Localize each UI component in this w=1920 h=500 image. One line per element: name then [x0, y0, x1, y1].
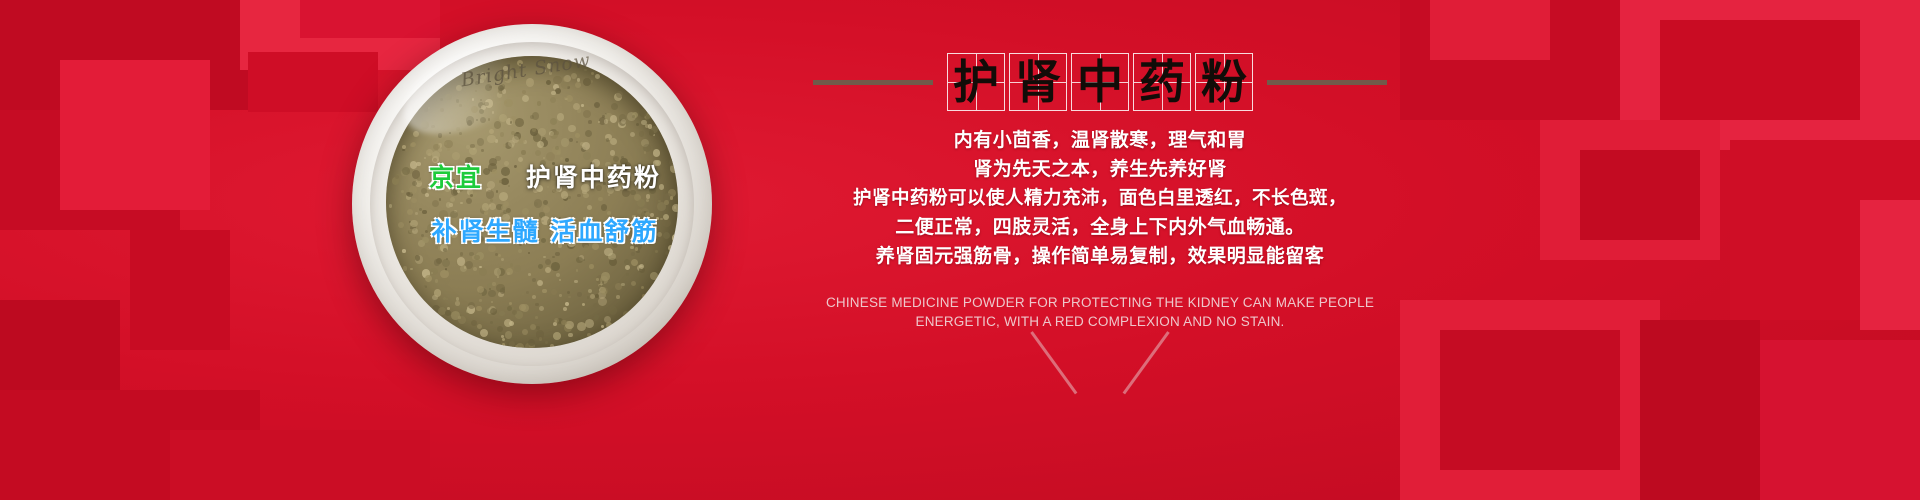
- heading-char: 护: [953, 59, 999, 105]
- bg-block: [170, 430, 430, 500]
- chevron-arm-right: [1123, 331, 1170, 394]
- bg-block: [130, 230, 230, 350]
- description-line: 护肾中药粉可以使人精力充沛，面色白里透红，不长色斑，: [700, 184, 1500, 213]
- heading-char: 粉: [1201, 59, 1247, 105]
- heading-cell: 中: [1071, 53, 1129, 111]
- bg-block: [1580, 150, 1700, 240]
- bg-block: [60, 60, 210, 210]
- heading-char: 药: [1139, 59, 1185, 105]
- english-subtitle: CHINESE MEDICINE POWDER FOR PROTECTING T…: [700, 293, 1500, 331]
- heading-cell: 药: [1133, 53, 1191, 111]
- heading-cell: 护: [947, 53, 1005, 111]
- description-line: 养肾固元强筋骨，操作简单易复制，效果明显能留客: [700, 242, 1500, 271]
- description-line: 肾为先天之本，养生先养好肾: [700, 155, 1500, 184]
- content-column: 护 肾 中 药 粉 内有小茴香，温肾散寒，理气和胃 肾为先天之本，养生先养好肾 …: [700, 0, 1500, 500]
- promo-banner: Bright Snow 京宜 护肾中药粉 补肾生髓 活血舒筋 护 肾 中 药 粉: [0, 0, 1920, 500]
- english-line: ENERGETIC, WITH A RED COMPLEXION AND NO …: [700, 312, 1500, 331]
- description-line: 二便正常，四肢灵活，全身上下内外气血畅通。: [700, 213, 1500, 242]
- heading-char: 中: [1077, 59, 1123, 105]
- heading-cell: 肾: [1009, 53, 1067, 111]
- product-photo: Bright Snow 京宜 护肾中药粉 补肾生髓 活血舒筋: [352, 24, 712, 384]
- heading-row: 护 肾 中 药 粉: [700, 56, 1500, 108]
- bg-block: [1760, 340, 1920, 500]
- heading-char: 肾: [1015, 59, 1061, 105]
- bg-block: [1860, 200, 1920, 330]
- heading-cell: 粉: [1195, 53, 1253, 111]
- bg-block: [1640, 320, 1760, 500]
- chevron-arm-left: [1030, 331, 1077, 394]
- chevron-down-icon: [1020, 332, 1180, 398]
- english-line: CHINESE MEDICINE POWDER FOR PROTECTING T…: [700, 293, 1500, 312]
- description-block: 内有小茴香，温肾散寒，理气和胃 肾为先天之本，养生先养好肾 护肾中药粉可以使人精…: [700, 126, 1500, 271]
- heading-rule-left: [813, 80, 933, 85]
- bg-block: [1660, 20, 1860, 120]
- description-line: 内有小茴香，温肾散寒，理气和胃: [700, 126, 1500, 155]
- heading-rule-right: [1267, 80, 1387, 85]
- heading-grid: 护 肾 中 药 粉: [947, 53, 1253, 111]
